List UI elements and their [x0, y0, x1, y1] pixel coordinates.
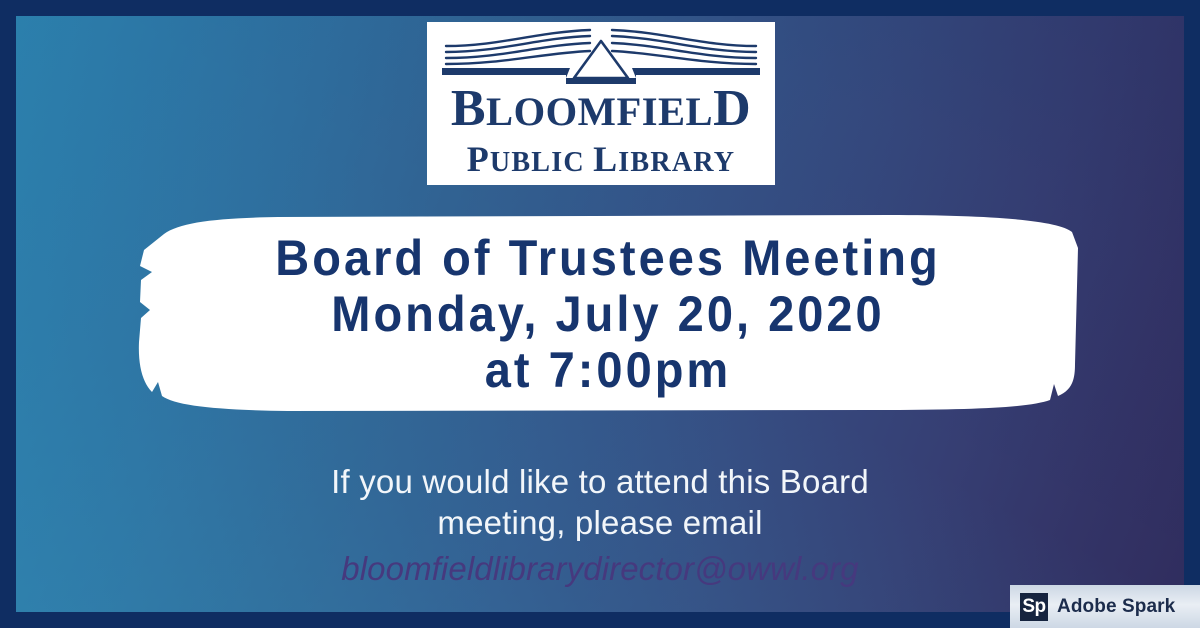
logo-wordmark-line2: PUBLIC LIBRARY: [467, 141, 736, 177]
headline-text: Board of Trustees Meeting Monday, July 2…: [157, 230, 1059, 398]
headline-line-2: Monday, July 20, 2020: [157, 286, 1059, 342]
open-book-icon: [440, 28, 762, 84]
headline-brush-stroke: Board of Trustees Meeting Monday, July 2…: [128, 214, 1088, 412]
poster-background: BLOOMFIELD PUBLIC LIBRARY Board of Trust…: [16, 16, 1184, 612]
adobe-spark-logo-icon: Sp: [1020, 593, 1048, 621]
headline-line-3: at 7:00pm: [157, 342, 1059, 398]
adobe-spark-watermark[interactable]: Sp Adobe Spark: [1010, 585, 1200, 628]
body-line-1: If you would like to attend this Board: [16, 461, 1184, 502]
logo-wordmark-line1: BLOOMFIELD: [451, 83, 751, 135]
body-line-2: meeting, please email: [16, 502, 1184, 543]
adobe-spark-label: Adobe Spark: [1057, 596, 1175, 618]
library-logo: BLOOMFIELD PUBLIC LIBRARY: [427, 22, 775, 185]
headline-line-1: Board of Trustees Meeting: [157, 230, 1059, 286]
book-spine-triangle-icon: [574, 41, 628, 78]
contact-email[interactable]: bloomfieldlibrarydirector@owwl.org: [16, 548, 1184, 589]
poster-canvas: BLOOMFIELD PUBLIC LIBRARY Board of Trust…: [0, 0, 1200, 628]
body-copy: If you would like to attend this Board m…: [16, 461, 1184, 589]
